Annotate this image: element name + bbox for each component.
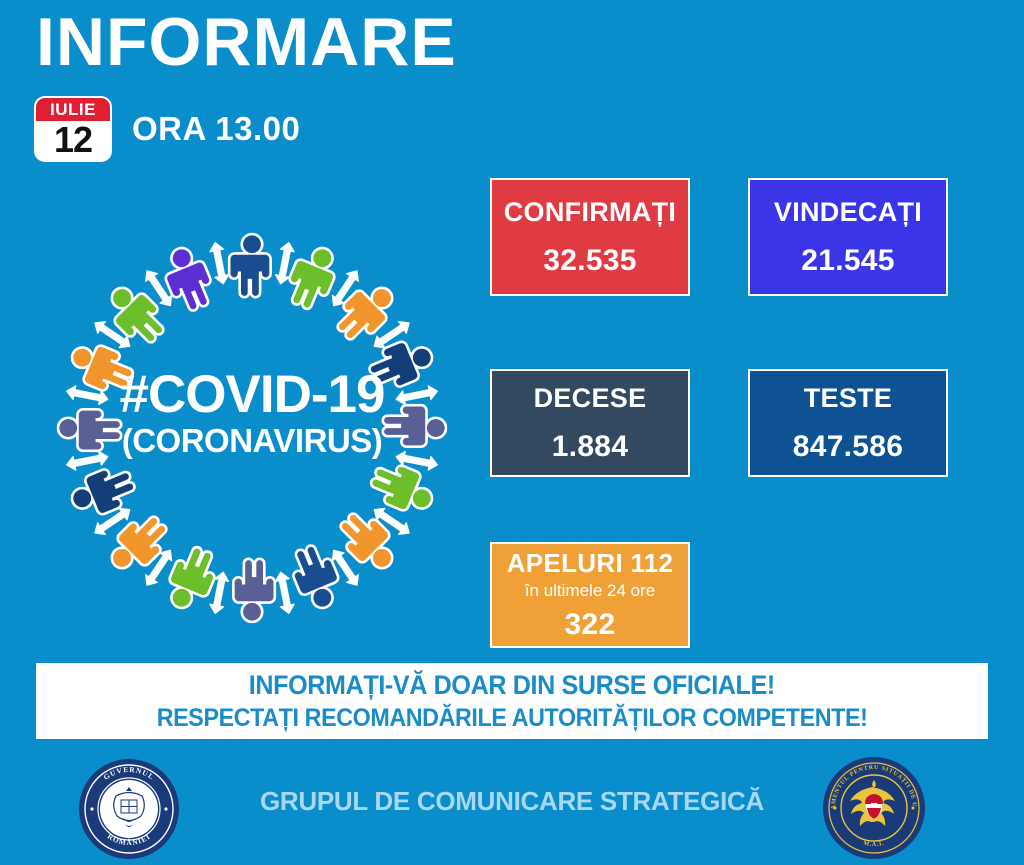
official-sources-banner: INFORMAȚI-VĂ DOAR DIN SURSE OFICIALE! RE… bbox=[36, 663, 988, 739]
person-figure bbox=[230, 235, 269, 296]
date-time-row: IULIE 12 ORA 13.00 bbox=[36, 98, 300, 160]
stat-label: CONFIRMAȚI bbox=[504, 197, 676, 228]
stat-value: 1.884 bbox=[552, 430, 629, 464]
stat-card-apeluri-112: APELURI 112 în ultimele 24 ore 322 bbox=[490, 542, 690, 648]
stat-label: APELURI 112 bbox=[507, 548, 674, 579]
report-hour: ORA 13.00 bbox=[132, 110, 300, 148]
calendar-icon: IULIE 12 bbox=[36, 98, 110, 160]
guvernul-romaniei-seal-icon: GUVERNUL ROMÂNIEI bbox=[78, 758, 180, 860]
stat-value: 847.586 bbox=[793, 430, 904, 464]
person-figure bbox=[384, 406, 445, 445]
stat-label: DECESE bbox=[534, 383, 647, 414]
stat-sublabel: în ultimele 24 ore bbox=[525, 581, 655, 601]
page-title: INFORMARE bbox=[36, 8, 457, 76]
stat-value: 32.535 bbox=[543, 244, 637, 278]
people-circle-icon: #COVID-19 (CORONAVIRUS) bbox=[42, 218, 462, 638]
person-figure bbox=[235, 560, 274, 621]
calendar-day: 12 bbox=[36, 121, 110, 160]
dsu-mai-seal-icon: DEPARTAMENTUL PENTRU SITUAȚII DE URGENȚĂ… bbox=[822, 756, 926, 860]
stat-value: 21.545 bbox=[801, 244, 895, 278]
stat-card-decese: DECESE 1.884 bbox=[490, 369, 690, 477]
infographic-canvas: INFORMARE IULIE 12 ORA 13.00 #COVID-19 bbox=[0, 0, 1024, 860]
stat-card-teste: TESTE 847.586 bbox=[748, 369, 948, 477]
person-figure bbox=[59, 411, 120, 450]
stat-card-vindecati: VINDECAȚI 21.545 bbox=[748, 178, 948, 296]
stat-label: VINDECAȚI bbox=[774, 197, 922, 228]
banner-line-2: RESPECTAȚI RECOMANDĂRILE AUTORITĂȚILOR C… bbox=[157, 704, 868, 733]
stat-card-confirmati: CONFIRMAȚI 32.535 bbox=[490, 178, 690, 296]
stat-label: TESTE bbox=[804, 383, 893, 414]
calendar-month: IULIE bbox=[36, 98, 110, 121]
banner-line-1: INFORMAȚI-VĂ DOAR DIN SURSE OFICIALE! bbox=[249, 670, 775, 701]
stat-value: 322 bbox=[565, 608, 616, 642]
